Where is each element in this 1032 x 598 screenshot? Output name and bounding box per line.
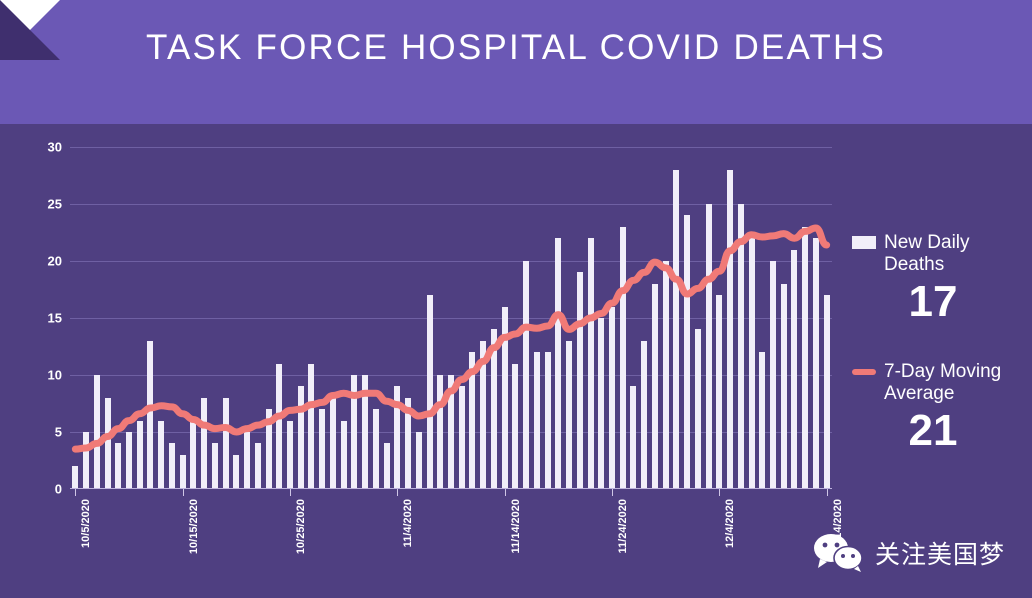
watermark-text: 关注美国梦 (875, 535, 1005, 571)
y-axis-label: 20 (28, 254, 62, 269)
legend-item-line: 7-Day Moving Average (852, 361, 1032, 406)
x-axis-tick (183, 489, 184, 496)
page-title: TASK FORCE HOSPITAL COVID DEATHS (0, 28, 1032, 68)
wechat-icon (812, 533, 866, 573)
line-swatch-icon (852, 369, 876, 375)
corner-fold-dark-triangle (0, 0, 60, 60)
plot-area (70, 147, 832, 489)
y-axis-label: 30 (28, 140, 62, 155)
x-axis-label: 11/14/2020 (510, 499, 522, 553)
moving-average-line (70, 147, 832, 489)
x-axis-tick (827, 489, 828, 496)
x-axis-label: 10/5/2020 (80, 499, 92, 548)
chart-legend: New Daily Deaths 17 7-Day Moving Average… (852, 232, 1032, 456)
x-axis-tick (719, 489, 720, 496)
x-axis-label: 11/4/2020 (402, 499, 414, 547)
x-axis-label: 10/15/2020 (188, 499, 200, 554)
x-axis-tick (290, 489, 291, 496)
bar-swatch-icon (852, 236, 876, 249)
y-axis-label: 15 (28, 311, 62, 326)
x-axis-tick (397, 489, 398, 496)
y-axis-label: 5 (28, 425, 62, 440)
x-axis-tick (75, 489, 76, 496)
x-axis-label: 11/24/2020 (617, 499, 629, 553)
y-axis-label: 25 (28, 197, 62, 212)
presentation-slide: TASK FORCE HOSPITAL COVID DEATHS 0510152… (0, 0, 1032, 598)
wechat-watermark: 关注美国梦 (812, 533, 1005, 573)
legend-label-line: 7-Day Moving Average (884, 361, 1032, 406)
legend-label-bars: New Daily Deaths (884, 232, 1032, 277)
y-axis-label: 10 (28, 368, 62, 383)
y-axis-label: 0 (28, 482, 62, 497)
legend-item-bars: New Daily Deaths (852, 232, 1032, 277)
corner-fold-decoration (0, 0, 60, 60)
x-axis-label: 12/4/2020 (724, 499, 736, 548)
slide-header: TASK FORCE HOSPITAL COVID DEATHS (0, 0, 1032, 124)
x-axis-tick (505, 489, 506, 496)
x-axis-ticks: 10/5/202010/15/202010/25/202011/4/202011… (70, 489, 832, 598)
moving-average-path (75, 228, 826, 449)
legend-value-line: 21 (858, 406, 1008, 456)
x-axis-label: 10/25/2020 (295, 499, 307, 554)
y-axis-ticks: 051015202530 (22, 147, 62, 489)
x-axis-tick (612, 489, 613, 496)
legend-value-bars: 17 (858, 277, 1008, 327)
